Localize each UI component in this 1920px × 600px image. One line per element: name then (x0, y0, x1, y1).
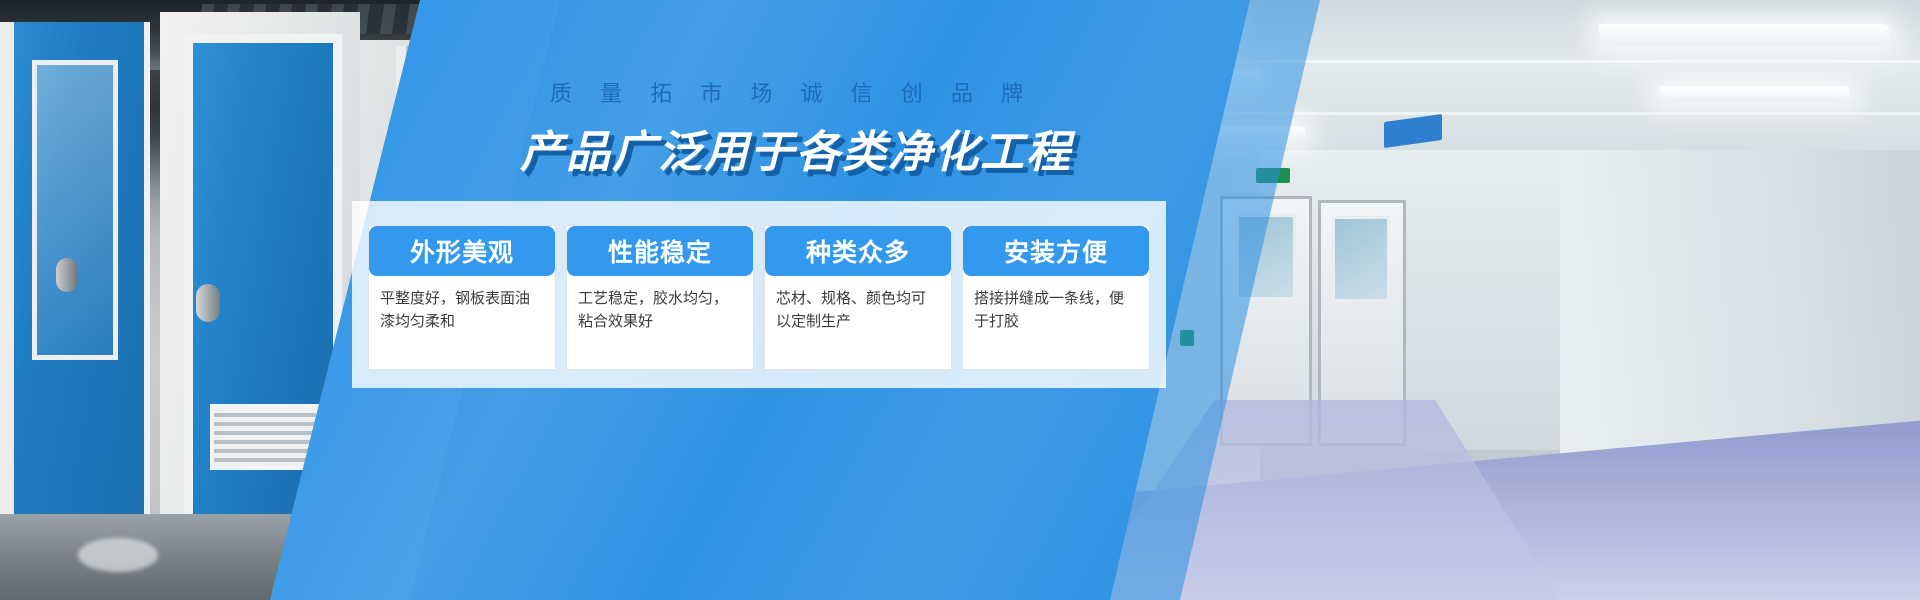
banner-headline: 产品广泛用于各类净化工程 (496, 116, 1096, 180)
feature-card[interactable]: 外形美观 平整度好，钢板表面油漆均匀柔和 (368, 225, 556, 370)
feature-card-title: 外形美观 (369, 226, 555, 276)
feature-card[interactable]: 性能稳定 工艺稳定，胶水均匀，粘合效果好 (566, 225, 754, 370)
feature-card-description: 芯材、规格、颜色均可以定制生产 (765, 276, 951, 369)
feature-card-title: 安装方便 (963, 226, 1149, 276)
banner-subtitle: 质 量 拓 市 场 诚 信 创 品 牌 (512, 76, 1072, 108)
feature-card-description: 平整度好，钢板表面油漆均匀柔和 (369, 276, 555, 369)
feature-card[interactable]: 种类众多 芯材、规格、颜色均可以定制生产 (764, 225, 952, 370)
feature-card-description: 搭接拼缝成一条线，便于打胶 (963, 276, 1149, 369)
feature-card-title: 性能稳定 (567, 226, 753, 276)
feature-card-list: 外形美观 平整度好，钢板表面油漆均匀柔和 性能稳定 工艺稳定，胶水均匀，粘合效果… (368, 225, 1150, 370)
feature-card-description: 工艺稳定，胶水均匀，粘合效果好 (567, 276, 753, 369)
promo-banner: 质 量 拓 市 场 诚 信 创 品 牌 产品广泛用于各类净化工程 外形美观 平整… (0, 0, 1920, 600)
feature-card-title: 种类众多 (765, 226, 951, 276)
feature-card[interactable]: 安装方便 搭接拼缝成一条线，便于打胶 (962, 225, 1150, 370)
